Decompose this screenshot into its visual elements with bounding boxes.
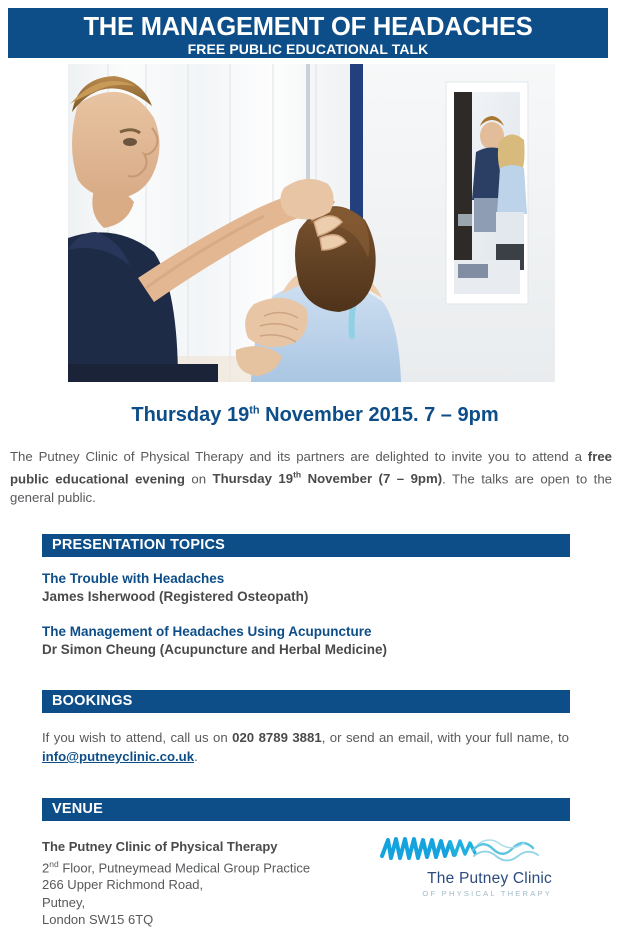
intro-bold-date-prefix: Thursday 19 [213,471,294,486]
venue-floor-ordinal: nd [49,859,58,869]
intro-text-1: The Putney Clinic of Physical Therapy an… [10,449,588,464]
topic-presenter: James Isherwood (Registered Osteopath) [42,588,572,606]
page-subtitle: FREE PUBLIC EDUCATIONAL TALK [8,41,608,57]
logo-name: The Putney Clinic [378,870,558,888]
list-item: The Trouble with Headaches James Isherwo… [42,570,572,606]
venue-address-line-2: 266 Upper Richmond Road, [42,876,372,894]
venue-floor-rest: Floor, Putneymead Medical Group Practice [59,860,310,875]
topics-list: The Trouble with Headaches James Isherwo… [42,570,572,676]
bookings-email-link[interactable]: info@putneyclinic.co.uk [42,749,194,764]
bookings-text-2: , or send an email, with your full name,… [322,730,569,745]
intro-bold-date: Thursday 19th November (7 – 9pm) [213,471,443,486]
intro-text-2: on [185,471,213,486]
clinic-logo: The Putney Clinic OF PHYSICAL THERAPY [378,830,558,902]
topic-title: The Management of Headaches Using Acupun… [42,623,572,641]
logo-tagline: OF PHYSICAL THERAPY [378,888,558,899]
venue-address-line-1: 2nd Floor, Putneymead Medical Group Prac… [42,856,372,877]
header-banner: THE MANAGEMENT OF HEADACHES FREE PUBLIC … [8,8,608,58]
venue-address-line-4: London SW15 6TQ [42,911,372,929]
section-header-venue: VENUE [42,798,570,821]
page-title: THE MANAGEMENT OF HEADACHES [14,11,602,41]
list-item: The Management of Headaches Using Acupun… [42,623,572,659]
scribble-wave-icon [378,830,558,870]
intro-paragraph: The Putney Clinic of Physical Therapy an… [10,447,612,507]
topic-title: The Trouble with Headaches [42,570,572,588]
venue-address-line-3: Putney, [42,894,372,912]
intro-bold-date-suffix: November (7 – 9pm) [301,471,442,486]
section-header-presentation-topics: PRESENTATION TOPICS [42,534,570,557]
bookings-text-3: . [194,749,198,764]
bookings-paragraph: If you wish to attend, call us on 020 87… [42,728,569,766]
topic-presenter: Dr Simon Cheung (Acupuncture and Herbal … [42,641,572,659]
event-date-suffix: November 2015. 7 – 9pm [260,404,499,426]
venue-address: The Putney Clinic of Physical Therapy 2n… [42,838,372,929]
hero-photo [68,64,555,382]
event-date: Thursday 19th November 2015. 7 – 9pm [0,404,630,427]
event-date-ordinal: th [249,404,259,416]
bookings-text-1: If you wish to attend, call us on [42,730,232,745]
event-date-prefix: Thursday 19 [131,404,249,426]
venue-name: The Putney Clinic of Physical Therapy [42,838,372,856]
hero-photo-illustration [68,64,555,382]
bookings-phone: 020 8789 3881 [232,730,322,745]
section-header-bookings: BOOKINGS [42,690,570,713]
intro-bold-date-ordinal: th [293,470,301,480]
